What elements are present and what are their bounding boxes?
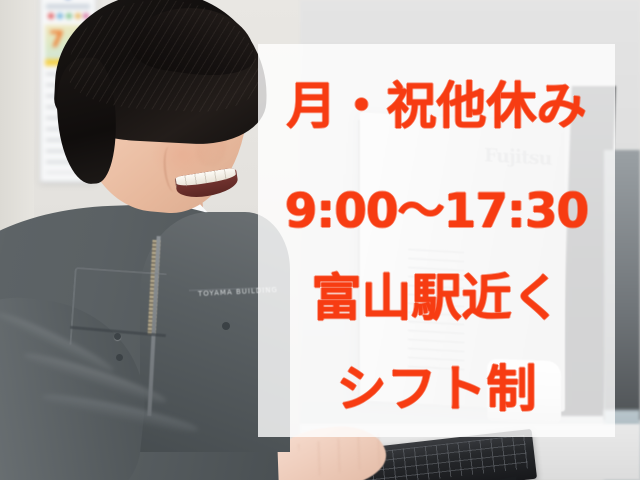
jacket-button (222, 322, 230, 330)
keyboard-foot (498, 476, 517, 480)
headline-text-block: 月・祝他休み 9:00〜17:30 富山駅近く シフト制 (258, 44, 615, 437)
headline-line-work-hours: 9:00〜17:30 (258, 172, 615, 241)
jacket-button (116, 354, 123, 361)
headline-line-location: 富山駅近く (258, 258, 615, 330)
jacket-button (114, 333, 121, 340)
headline-line-holiday: 月・祝他休み (258, 66, 615, 138)
poster-dots (47, 13, 89, 20)
banner-image: 7 Fujitsu (0, 0, 640, 480)
poster-header (46, 4, 90, 9)
headline-line-shift: シフト制 (258, 349, 615, 421)
